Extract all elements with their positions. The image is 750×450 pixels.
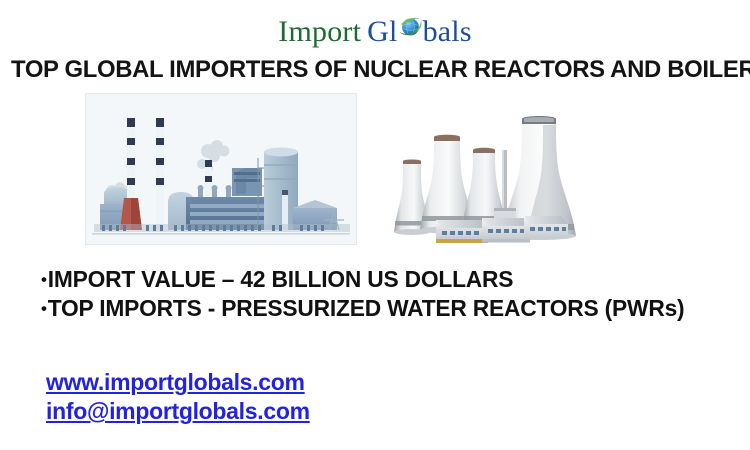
bullet-list: •IMPORT VALUE – 42 BILLION US DOLLARS •T… — [41, 265, 741, 323]
website-link[interactable]: www.importglobals.com — [46, 368, 310, 397]
email-link[interactable]: info@importglobals.com — [46, 397, 310, 426]
logo-word-import: Import — [278, 15, 361, 48]
bullet-marker-icon: • — [41, 270, 47, 289]
globe-icon — [398, 14, 423, 39]
logo-word-global-suffix: bals — [423, 15, 472, 48]
logo-word-global-prefix: Gl — [367, 15, 397, 48]
industrial-power-plant-illustration — [85, 93, 357, 245]
page-title: TOP GLOBAL IMPORTERS OF NUCLEAR REACTORS… — [11, 56, 723, 84]
contact-links: www.importglobals.com info@importglobals… — [46, 368, 310, 426]
bullet-text: IMPORT VALUE – 42 BILLION US DOLLARS — [48, 266, 514, 292]
list-item: •TOP IMPORTS - PRESSURIZED WATER REACTOR… — [41, 294, 734, 323]
brand-logo: ImportGl bals — [0, 14, 750, 47]
nuclear-cooling-towers-photo — [378, 108, 600, 248]
bullet-marker-icon: • — [41, 299, 47, 318]
list-item: •IMPORT VALUE – 42 BILLION US DOLLARS — [41, 265, 734, 294]
bullet-text: TOP IMPORTS - PRESSURIZED WATER REACTORS… — [48, 295, 685, 321]
